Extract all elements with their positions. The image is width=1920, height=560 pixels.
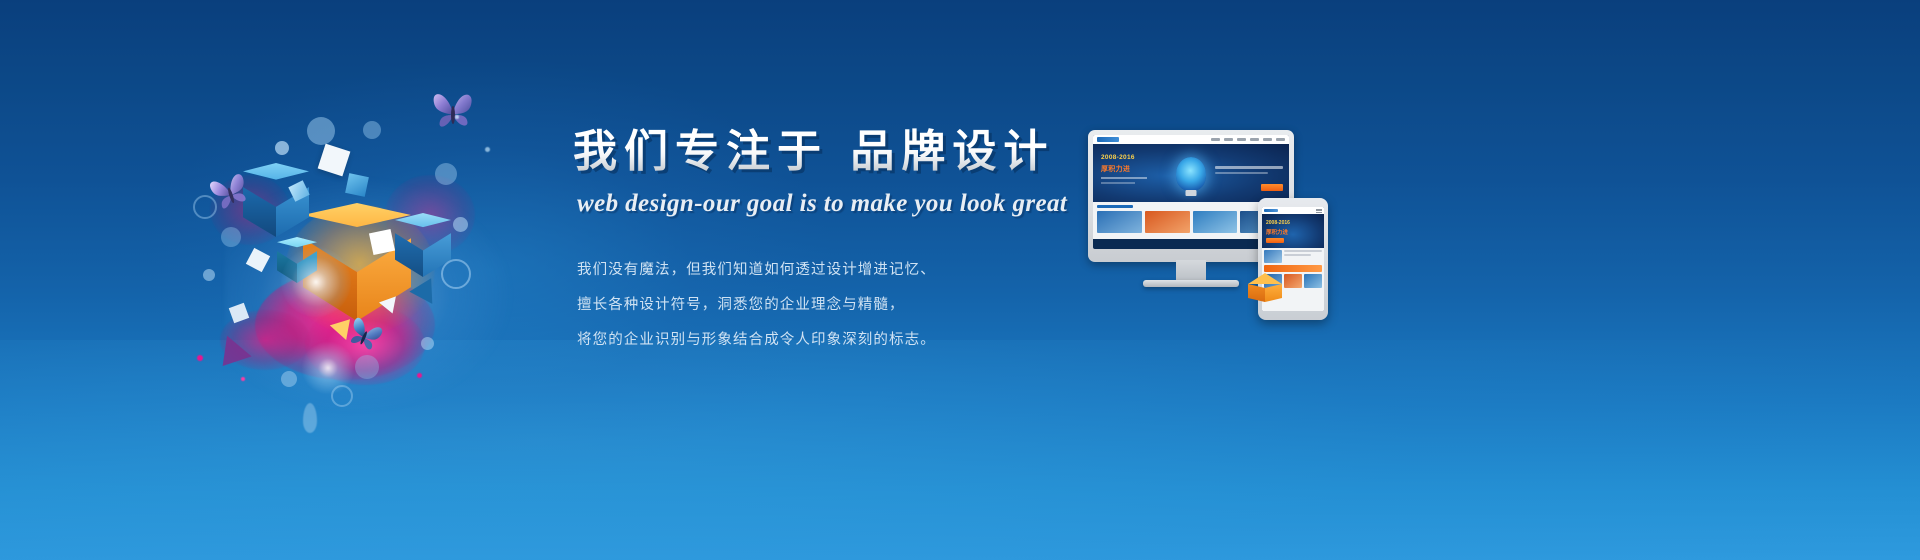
mockup-nav-item xyxy=(1211,138,1220,141)
mockup-site-hero: 2008-2016 厚积力进 xyxy=(1093,144,1289,202)
mockup-nav-item xyxy=(1224,138,1233,141)
butterfly-icon xyxy=(425,83,481,139)
abstract-artwork xyxy=(185,55,555,435)
bokeh-circle xyxy=(421,337,434,350)
mockup-section-heading xyxy=(1097,205,1133,208)
paragraph-line: 将您的企业识别与形象结合成令人印象深刻的标志。 xyxy=(577,328,1193,353)
bokeh-circle xyxy=(203,269,215,281)
mockup-hero-right-text xyxy=(1215,166,1283,177)
mockup-hero-subtitle: 厚积力进 xyxy=(1101,164,1130,174)
hero-banner: 我们专注于 品牌设计 web design-our goal is to mak… xyxy=(0,0,1920,560)
bokeh-circle xyxy=(435,163,457,185)
device-mockup: 2008-2016 厚积力进 xyxy=(1088,130,1348,325)
square-blue xyxy=(345,173,369,197)
bokeh-circle xyxy=(221,227,241,247)
phone-card xyxy=(1304,274,1322,288)
mockup-hero-title: 2008-2016 xyxy=(1101,154,1135,161)
phone-highlight-bar xyxy=(1264,265,1322,272)
phone-list-item xyxy=(1264,250,1322,263)
mockup-cta-button xyxy=(1261,184,1283,191)
phone-cta-button xyxy=(1266,238,1284,243)
bokeh-circle xyxy=(281,371,297,387)
ring-outline xyxy=(441,259,471,289)
mockup-nav-item xyxy=(1276,138,1285,141)
phone-site-hero: 2008-2016 厚积力进 xyxy=(1262,214,1324,248)
phone-text-lines xyxy=(1284,250,1322,263)
butterfly-top xyxy=(425,83,481,139)
mockup-site-nav xyxy=(1093,135,1289,144)
cube-right-face xyxy=(1265,284,1282,302)
mockup-hero-text-line xyxy=(1101,177,1147,179)
mockup-hero-text-line xyxy=(1101,182,1135,184)
speckle xyxy=(197,355,203,361)
speckle xyxy=(455,115,459,119)
phone-card xyxy=(1284,274,1302,288)
bokeh-circle xyxy=(363,121,381,139)
phone-thumbnail xyxy=(1264,250,1282,263)
speckle xyxy=(303,403,317,433)
speckle xyxy=(485,147,490,152)
phone-hero-title: 2008-2016 xyxy=(1266,220,1290,226)
light-burst xyxy=(281,247,351,317)
cube-left-face xyxy=(1248,284,1265,302)
decorative-orange-cube xyxy=(1248,273,1282,307)
mockup-card xyxy=(1097,211,1142,233)
mockup-card-grid xyxy=(1097,211,1285,233)
square-white xyxy=(369,229,395,255)
speckle xyxy=(417,373,422,378)
hamburger-menu-icon xyxy=(1316,209,1322,213)
mockup-site-menu xyxy=(1211,138,1285,141)
phone-hero-subtitle: 厚积力进 xyxy=(1266,228,1288,236)
bokeh-circle xyxy=(307,117,335,145)
cube-top-face xyxy=(1248,273,1282,284)
lightbulb-icon xyxy=(1176,157,1206,191)
mockup-nav-item xyxy=(1250,138,1259,141)
speckle xyxy=(241,377,245,381)
mockup-card xyxy=(1145,211,1190,233)
mockup-nav-item xyxy=(1237,138,1246,141)
bokeh-circle xyxy=(453,217,468,232)
mockup-site-logo xyxy=(1097,137,1119,142)
phone-site-nav xyxy=(1262,207,1324,214)
square-white xyxy=(318,144,351,177)
phone-site-logo xyxy=(1264,209,1278,213)
mockup-card xyxy=(1193,211,1238,233)
mockup-nav-item xyxy=(1263,138,1272,141)
monitor-stand-base xyxy=(1143,280,1239,287)
bokeh-circle xyxy=(275,141,289,155)
